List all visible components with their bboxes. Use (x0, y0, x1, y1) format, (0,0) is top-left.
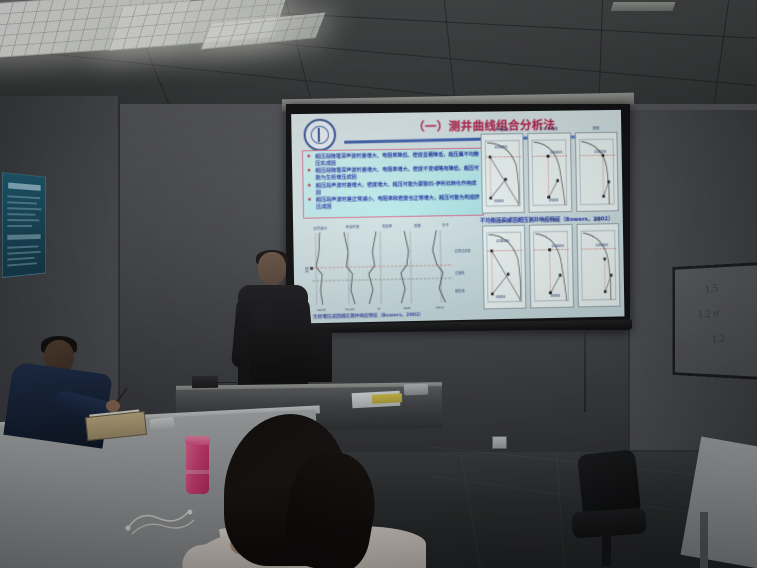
university-emblem-icon (303, 119, 336, 152)
notice-board (2, 172, 46, 278)
white-earphones (124, 500, 204, 538)
svg-text:过渡段: 过渡段 (455, 270, 465, 275)
svg-text:CNL(%): CNL(%) (436, 306, 445, 309)
crossplot-panel: 中子孔隙度 正常趋势线 卸载曲线 (528, 132, 572, 212)
svg-text:正常趋势线: 正常趋势线 (595, 243, 608, 247)
seated-woman-taking-notes (196, 414, 426, 568)
crossplot-header: 声波时差 (481, 127, 522, 133)
chair-backrest (577, 449, 641, 517)
svg-text:RT: RT (377, 308, 381, 311)
yellow-folder (372, 393, 402, 404)
svg-text:正常压实段: 正常压实段 (455, 248, 472, 253)
well-log-panel: 自然伽马 声波时差 电阻率 密度 中子 深度 正常压实段 (301, 220, 479, 316)
screen-cable (584, 330, 586, 412)
crossplot-panel: 中子孔隙度 正常趋势线 卸载曲线 (529, 224, 573, 308)
svg-text:GR(API): GR(API) (317, 309, 326, 312)
svg-text:正常趋势线: 正常趋势线 (496, 237, 510, 243)
crossplot-row-bottom: 声波时差 正常趋势线 卸载曲线 中子孔隙度 (482, 223, 620, 309)
slide-bullet-box: 超压段随埋深声波时差增大、电阻率降低、密度显著降低，超压属不均衡压实成因 超压段… (302, 148, 484, 219)
whiteboard-mark: 1.2 σ (698, 307, 720, 320)
slide-bullet: 超压段随埋深声波时差增大、电阻率增大、密度不变或略有降低，超压可能为生烃增压成因 (306, 166, 479, 182)
svg-text:超压段: 超压段 (455, 288, 465, 293)
pen (116, 388, 127, 402)
crossplot-panel: 密度 正常趋势线 (575, 132, 619, 212)
crossplot-panel: 声波时差 正常趋势线 卸载曲线 (481, 133, 526, 214)
svg-text:声波时差: 声波时差 (346, 224, 360, 229)
crossplot-panel: 密度 正常趋势线 (576, 223, 620, 307)
crossplot-header: 声波时差 (483, 219, 524, 225)
svg-text:正常趋势线: 正常趋势线 (552, 243, 565, 247)
crossplot-header: 密度 (575, 126, 616, 132)
svg-text:自然伽马: 自然伽马 (313, 225, 327, 230)
svg-text:电阻率: 电阻率 (382, 223, 393, 228)
desktop-monitor (250, 330, 332, 382)
office-chair (572, 452, 650, 568)
classroom-photo-scene: 1.5 1.2 σ 1.2 （一）测井曲线组合分析法 超压段随埋深声波时差增大、… (0, 0, 757, 568)
side-table-leg (700, 512, 708, 568)
svg-text:正常趋势线: 正常趋势线 (494, 143, 508, 148)
desk-cable (214, 372, 255, 383)
whiteboard-mark: 1.2 (711, 332, 725, 345)
svg-text:RHOB: RHOB (403, 307, 410, 310)
seated-man-writing (8, 338, 126, 438)
svg-text:卸载曲线: 卸载曲线 (551, 293, 561, 297)
crossplot-panel: 声波时差 正常趋势线 卸载曲线 (482, 225, 527, 310)
crossplot-header: 中子孔隙度 (529, 126, 570, 132)
wall-power-socket[interactable] (492, 436, 507, 449)
svg-text:正常趋势线: 正常趋势线 (550, 150, 563, 154)
chair-post (602, 532, 611, 566)
svg-text:卸载曲线: 卸载曲线 (494, 199, 504, 203)
desk-phone (404, 384, 428, 396)
crossplot-header: 密度 (577, 217, 618, 223)
svg-text:中子: 中子 (442, 222, 449, 227)
whiteboard: 1.5 1.2 σ 1.2 (673, 262, 757, 380)
svg-text:卸载曲线: 卸载曲线 (549, 198, 559, 202)
svg-text:卸载曲线: 卸载曲线 (496, 295, 506, 299)
projected-slide: （一）测井曲线组合分析法 超压段随埋深声波时差增大、电阻率降低、密度显著降低，超… (291, 110, 624, 324)
slide-bullet: 超压段声波时差正常减小、电阻率和密度也正常增大，超压可能为构造挤压成因 (307, 195, 480, 211)
svg-text:密度: 密度 (414, 223, 421, 228)
svg-text:DT(us/ft): DT(us/ft) (345, 308, 355, 311)
crossplot-header: 中子孔隙度 (530, 218, 571, 224)
svg-text:正常趋势线: 正常趋势线 (594, 149, 607, 153)
crossplot-row-top: 声波时差 正常趋势线 卸载曲线 中子孔隙度 (481, 132, 619, 214)
whiteboard-mark: 1.5 (704, 282, 718, 296)
ceiling-light-far (611, 2, 676, 11)
